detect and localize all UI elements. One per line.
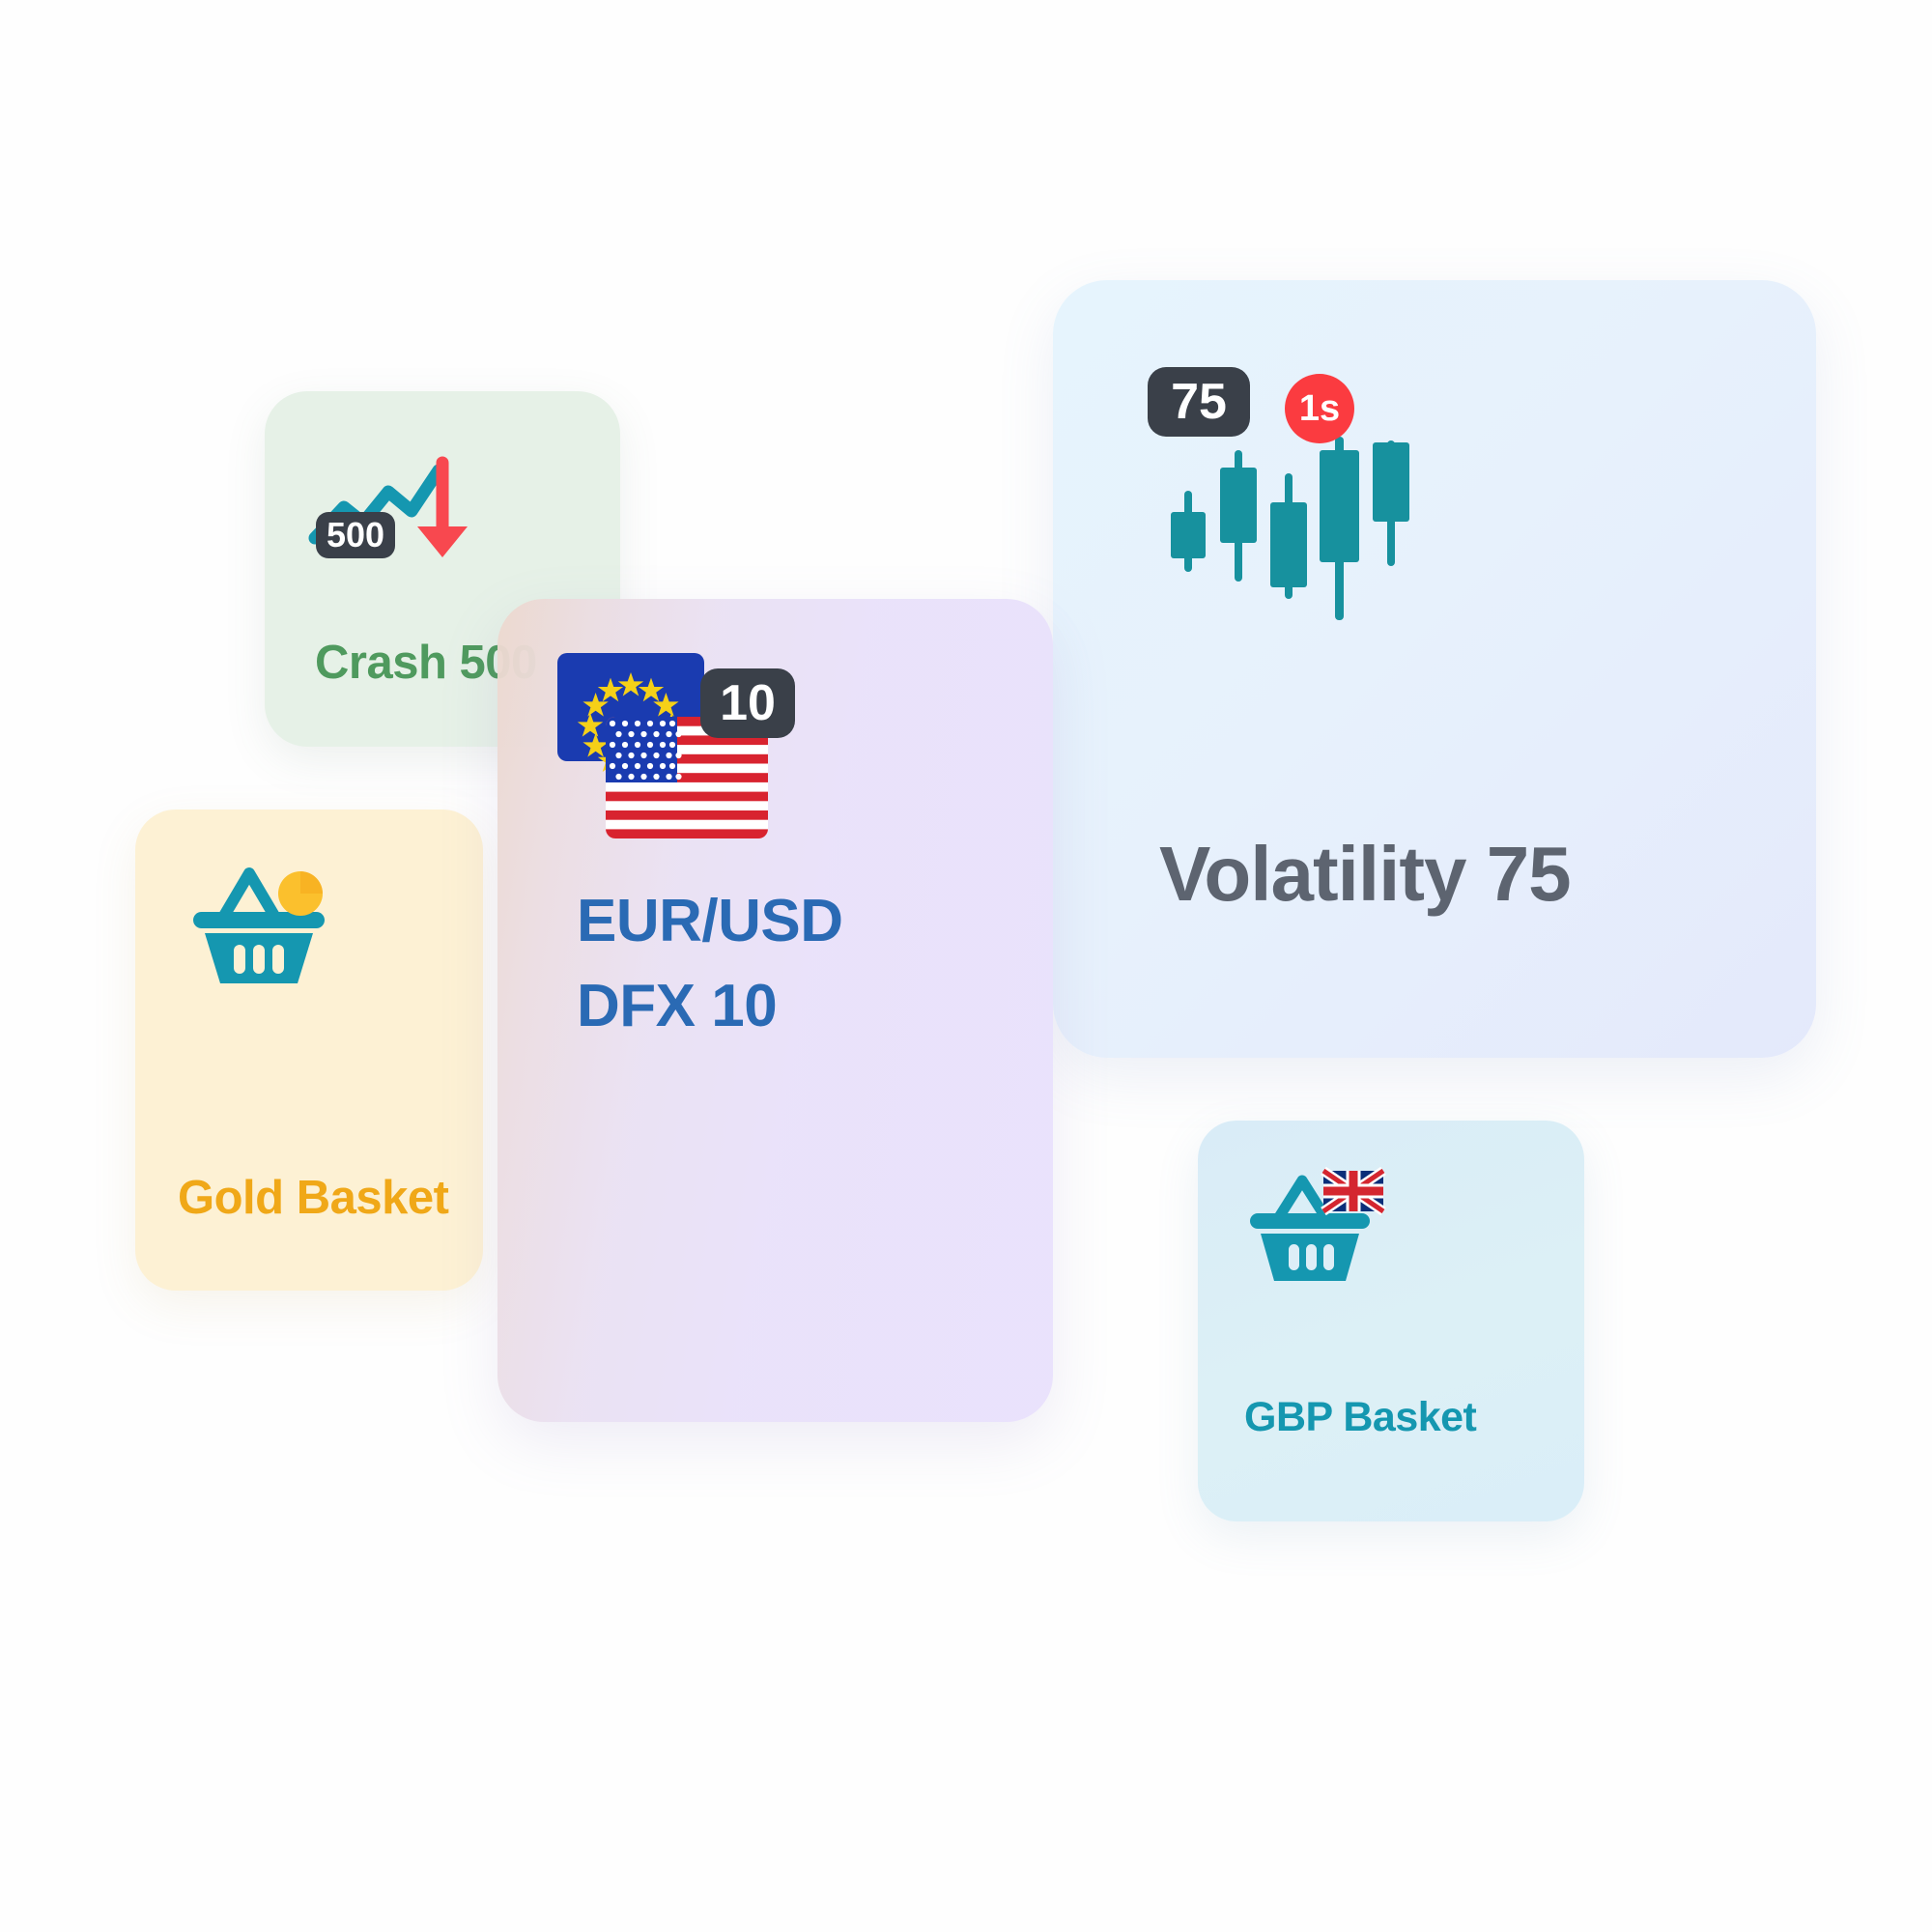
card-collage-canvas: Crash 500 500 Gold Basket	[0, 0, 1932, 1932]
basket-gold-coin-icon	[185, 856, 350, 991]
card-label-eurusd-line2: DFX 10	[577, 964, 843, 1049]
instrument-card-gold-basket[interactable]: Gold Basket	[135, 810, 483, 1291]
badge-tick-interval-1s: 1s	[1285, 374, 1354, 443]
card-label-eurusd: EUR/USD DFX 10	[577, 879, 843, 1049]
badge-crash-500: 500	[316, 512, 395, 558]
badge-dfx-10: 10	[700, 668, 795, 738]
basket-uk-flag-icon	[1244, 1161, 1399, 1287]
card-label-gbp-basket: GBP Basket	[1244, 1394, 1476, 1440]
instrument-card-gbp-basket[interactable]: GBP Basket	[1198, 1121, 1584, 1521]
card-label-gold-basket: Gold Basket	[178, 1172, 448, 1225]
badge-volatility-75: 75	[1148, 367, 1250, 437]
card-label-eurusd-line1: EUR/USD	[577, 879, 843, 964]
card-label-volatility-75: Volatility 75	[1159, 831, 1571, 918]
